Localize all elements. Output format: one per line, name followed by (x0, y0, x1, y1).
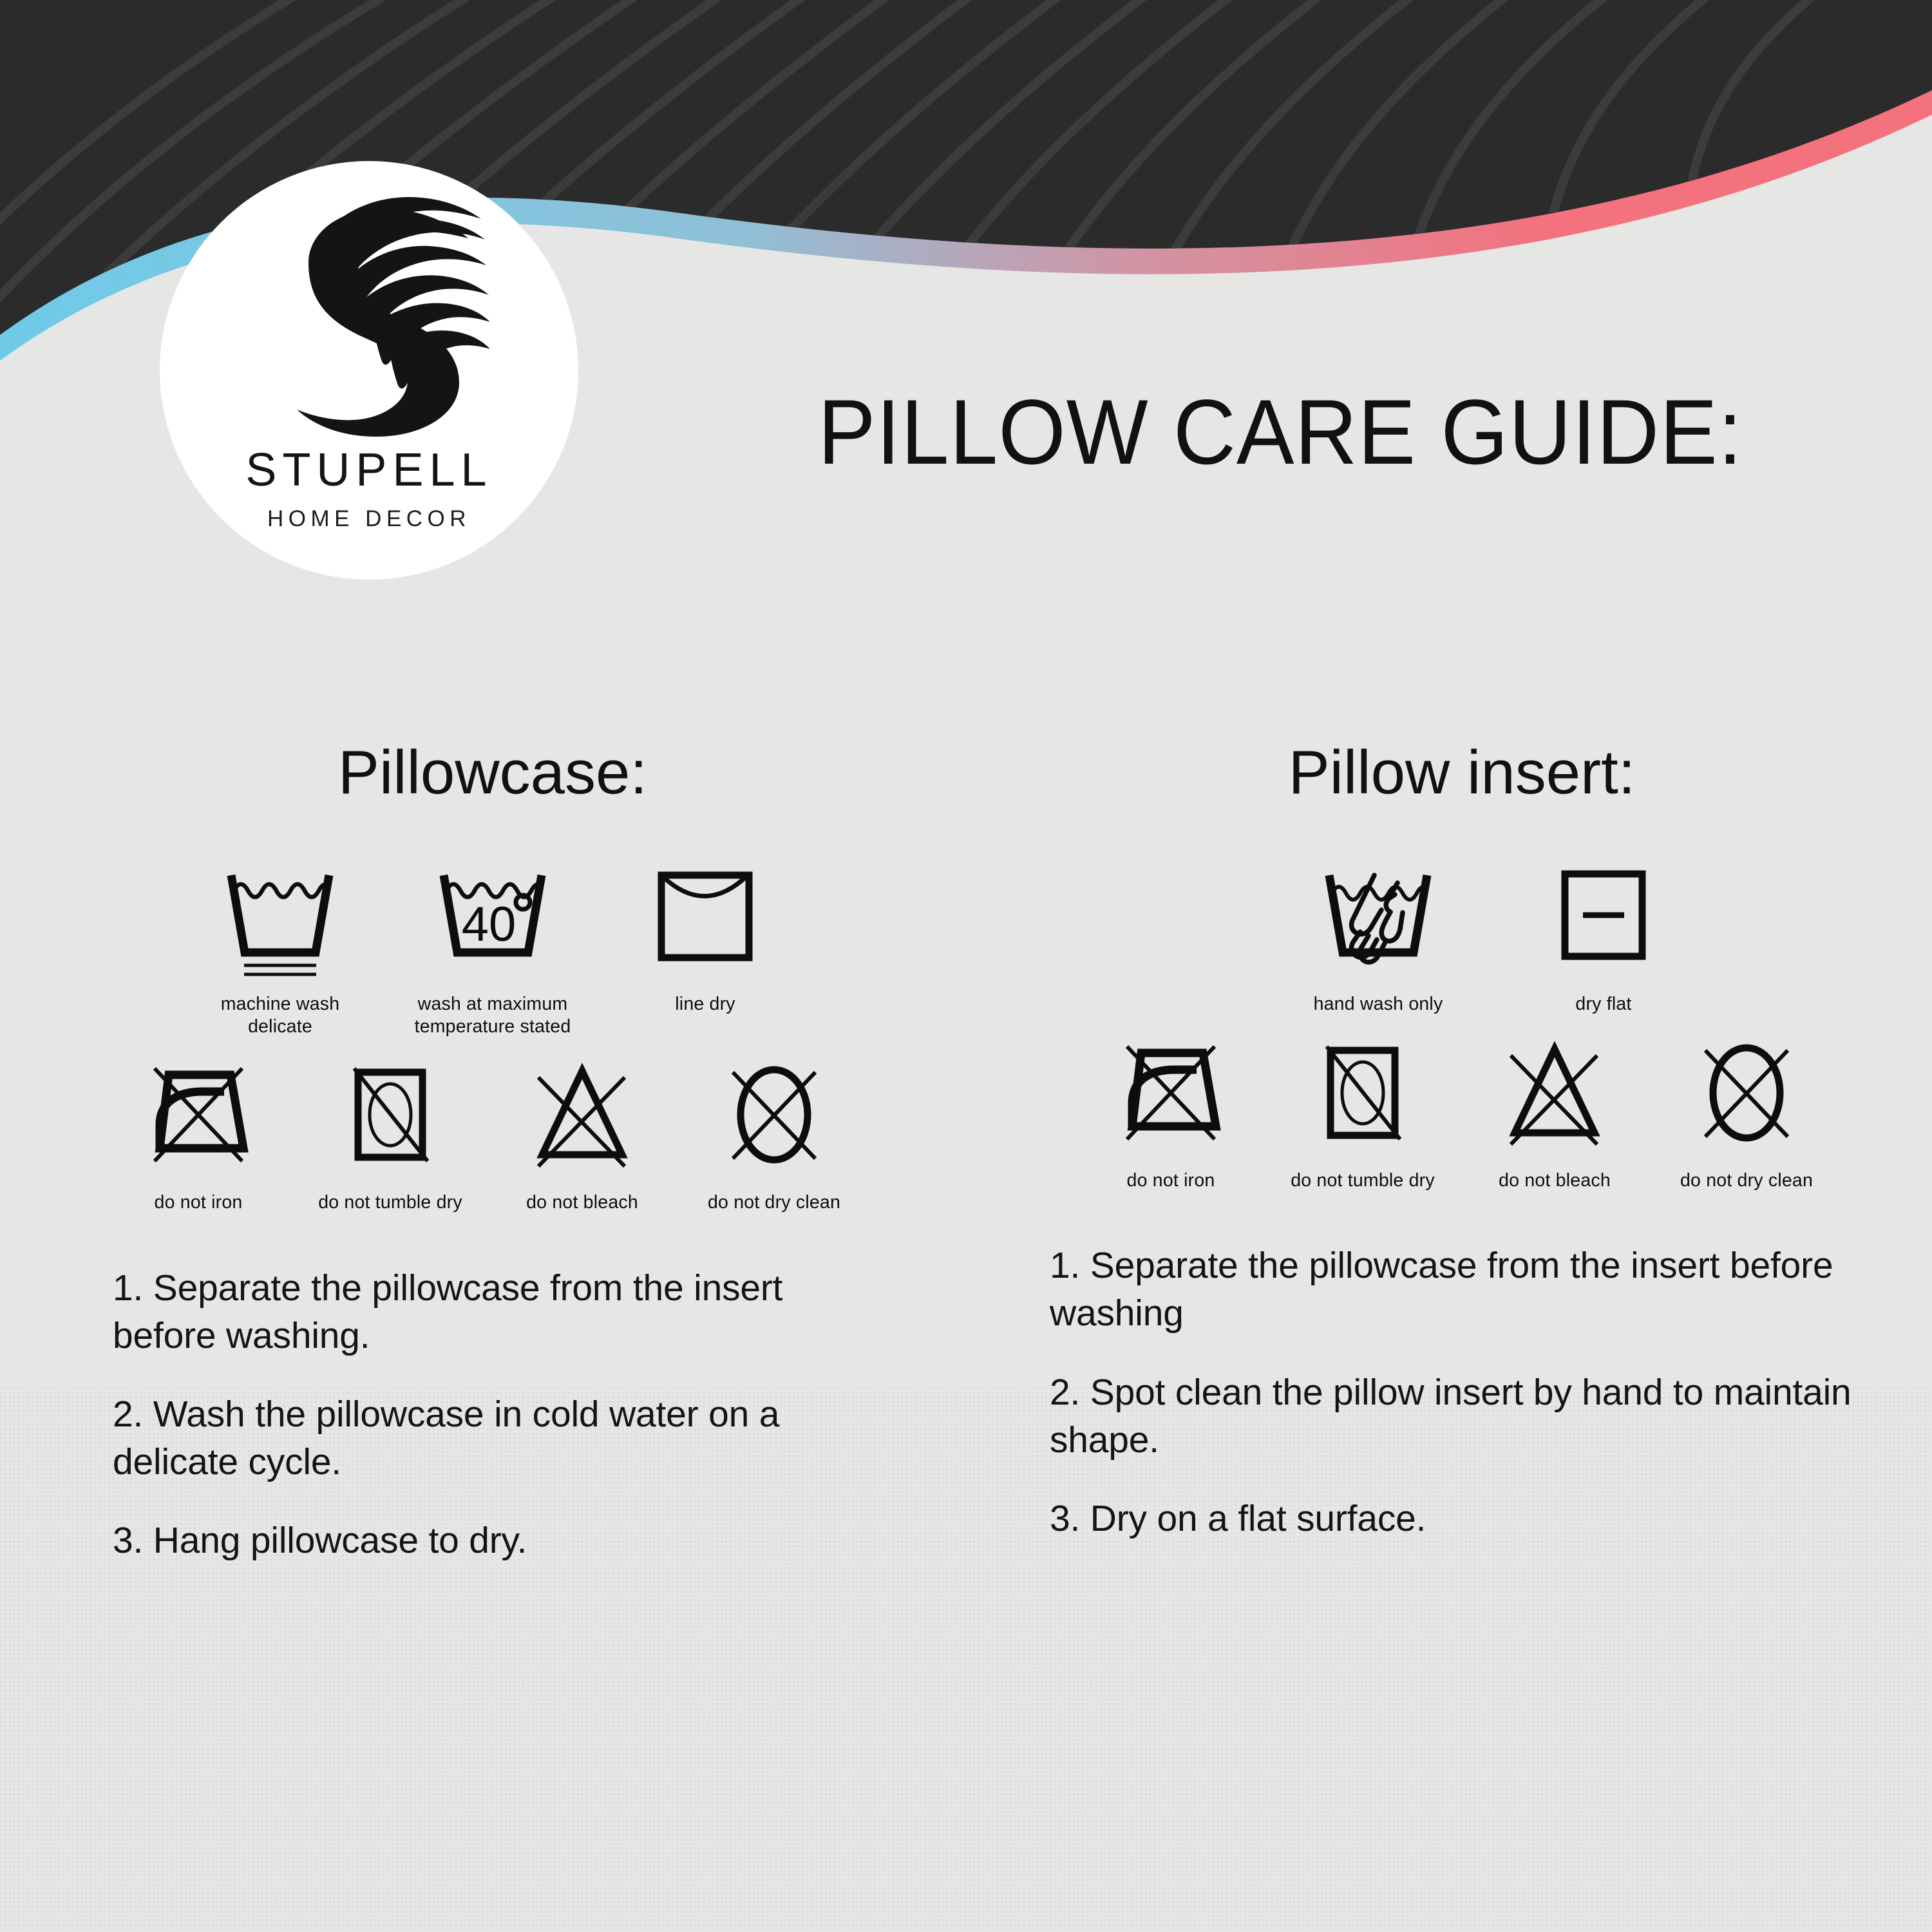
symbol-do-not-tumble-dry: do not tumble dry (1282, 1041, 1443, 1192)
wash-temperature-value: 40 (462, 897, 516, 952)
brand-logo-badge: STUPELL HOME DECOR (160, 161, 578, 580)
symbol-label: do not tumble dry (1291, 1170, 1435, 1192)
pillowcase-section: Pillowcase: machine wash delicate 40 (0, 741, 966, 1596)
brand-name: STUPELL (245, 447, 492, 493)
step-item: 2. Wash the pillowcase in cold water on … (113, 1390, 889, 1486)
page-title: PILLOW CARE GUIDE: (818, 380, 1743, 486)
symbol-label: do not dry clean (1680, 1170, 1813, 1192)
stupell-swoosh-logo-icon (247, 192, 491, 443)
pillow-insert-section: Pillow insert: hand wa (966, 741, 1932, 1573)
symbol-label: do not iron (1127, 1170, 1215, 1192)
pillow-insert-symbol-row-2: do not iron do not tumble dry do not ble… (966, 1041, 1932, 1192)
pillow-insert-symbol-row-1: hand wash only dry flat (966, 865, 1932, 1016)
symbol-do-not-bleach: do not bleach (1474, 1041, 1635, 1192)
do-not-dry-clean-icon (1689, 1041, 1804, 1160)
symbol-label: wash at maximum temperature stated (396, 993, 589, 1038)
care-guide-page: STUPELL HOME DECOR PILLOW CARE GUIDE: Pi… (0, 0, 1932, 1932)
pillowcase-steps: 1. Separate the pillowcase from the inse… (0, 1264, 966, 1564)
brand-tagline: HOME DECOR (267, 506, 471, 532)
step-item: 2. Spot clean the pillow insert by hand … (1050, 1368, 1893, 1464)
symbol-label: machine wash delicate (221, 993, 340, 1038)
symbol-do-not-dry-clean: do not dry clean (1666, 1041, 1827, 1192)
line-dry-icon (647, 865, 763, 984)
do-not-dry-clean-icon (716, 1063, 832, 1182)
step-item: 1. Separate the pillowcase from the inse… (113, 1264, 889, 1359)
wash-tub-40-degrees-icon: 40 (435, 865, 551, 984)
degree-symbol-icon (516, 895, 530, 909)
pillow-insert-steps: 1. Separate the pillowcase from the inse… (966, 1242, 1932, 1542)
symbol-label: do not dry clean (708, 1191, 840, 1214)
do-not-iron-icon (140, 1063, 256, 1182)
symbol-machine-wash-delicate: machine wash delicate (200, 865, 361, 1038)
symbol-do-not-iron: do not iron (118, 1063, 279, 1214)
symbol-do-not-bleach: do not bleach (502, 1063, 663, 1214)
symbol-do-not-tumble-dry: do not tumble dry (310, 1063, 471, 1214)
step-item: 3. Hang pillowcase to dry. (113, 1517, 889, 1564)
symbol-wash-40-degrees: 40 wash at maximum temperature stated (412, 865, 573, 1038)
symbol-label: hand wash only (1314, 993, 1443, 1016)
pillowcase-heading: Pillowcase: (0, 741, 966, 806)
symbol-label: do not bleach (1499, 1170, 1611, 1192)
do-not-iron-icon (1113, 1041, 1229, 1160)
symbol-label: do not iron (155, 1191, 243, 1214)
do-not-bleach-icon (1497, 1041, 1613, 1160)
pillow-insert-heading: Pillow insert: (966, 741, 1932, 806)
symbol-dry-flat: dry flat (1523, 865, 1684, 1016)
symbol-label: do not bleach (526, 1191, 638, 1214)
symbol-do-not-iron: do not iron (1090, 1041, 1251, 1192)
symbol-label: do not tumble dry (318, 1191, 462, 1214)
do-not-tumble-dry-icon (332, 1063, 448, 1182)
step-item: 3. Dry on a flat surface. (1050, 1495, 1893, 1542)
do-not-bleach-icon (524, 1063, 640, 1182)
symbol-hand-wash-only: hand wash only (1298, 865, 1459, 1016)
symbol-do-not-dry-clean: do not dry clean (694, 1063, 855, 1214)
symbol-line-dry: line dry (625, 865, 786, 1016)
pillowcase-symbol-row-2: do not iron do not tumble dry do not ble… (0, 1063, 966, 1214)
do-not-tumble-dry-icon (1305, 1041, 1421, 1160)
symbol-label: line dry (675, 993, 735, 1016)
pillowcase-symbol-row-1: machine wash delicate 40 wash at maximum… (0, 865, 966, 1038)
wash-tub-delicate-icon (222, 865, 338, 984)
dry-flat-icon (1546, 865, 1662, 984)
symbol-label: dry flat (1575, 993, 1631, 1016)
hand-wash-only-icon (1320, 865, 1436, 984)
step-item: 1. Separate the pillowcase from the inse… (1050, 1242, 1893, 1337)
